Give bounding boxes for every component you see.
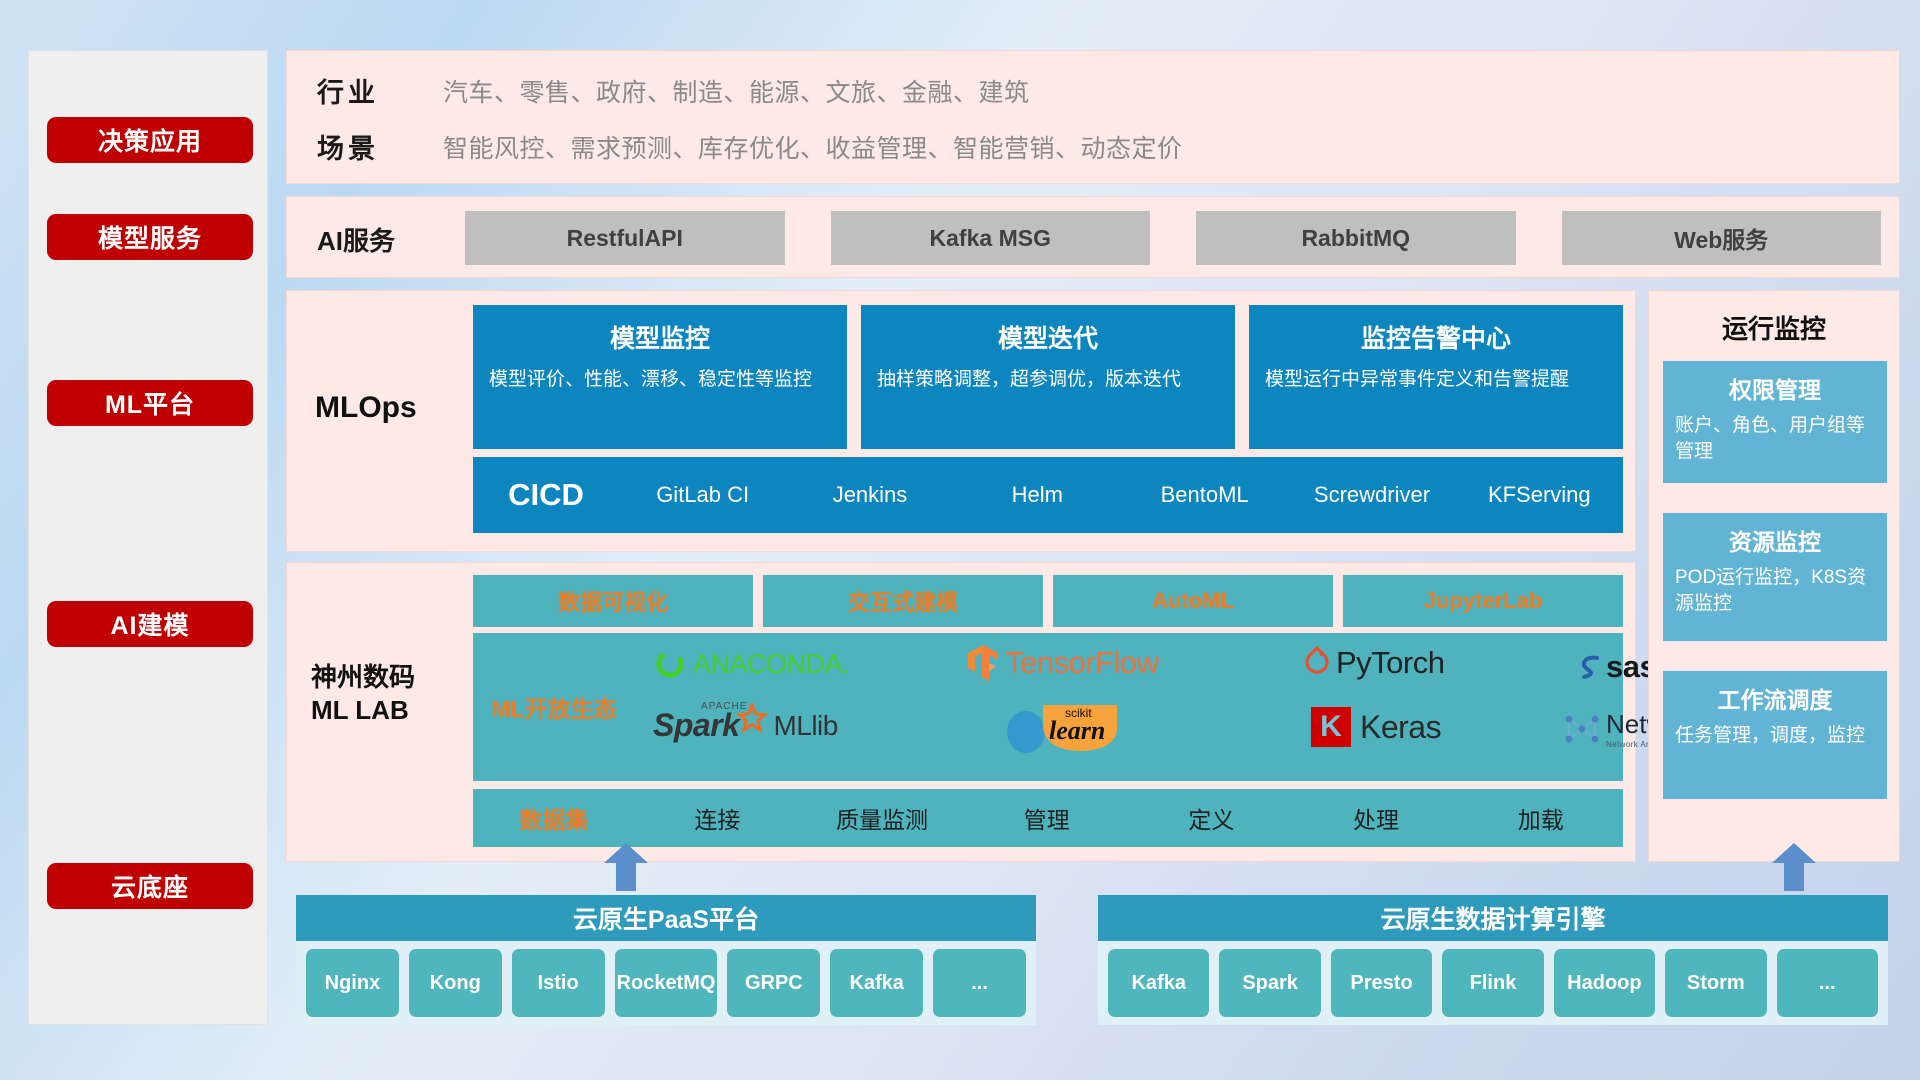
spark-mllib-logo: APACHE Spark MLlib [653, 707, 838, 744]
paas-chip-kafka[interactable]: Kafka [830, 949, 923, 1017]
cicd-label: CICD [473, 477, 619, 513]
ml-lab-title: 神州数码 ML LAB [311, 661, 471, 727]
card-desc: 模型评价、性能、漂移、稳定性等监控 [489, 367, 831, 392]
ml-ecosystem-logo-area: ANACONDA. TensorFlow [635, 633, 1623, 781]
cicd-item-helm[interactable]: Helm [954, 482, 1121, 507]
cicd-item-gitlab-ci[interactable]: GitLab CI [619, 482, 786, 507]
card-desc: 账户、角色、用户组等管理 [1675, 413, 1875, 465]
cicd-item-bentoml[interactable]: BentoML [1121, 482, 1288, 507]
rail-item-ai-modeling[interactable]: AI建模 [47, 601, 253, 647]
dataset-item-quality[interactable]: 质量监测 [800, 801, 965, 835]
mlops-card-list: 模型监控 模型评价、性能、漂移、稳定性等监控 模型迭代 抽样策略调整，超参调优，… [473, 305, 1623, 449]
tensorflow-wordmark: TensorFlow [1005, 645, 1159, 681]
rail-item-model-service[interactable]: 模型服务 [47, 214, 253, 260]
mlops-title: MLOps [315, 391, 465, 425]
ml-lab-panel: 神州数码 ML LAB 数据可视化 交互式建模 AutoML JupyterLa… [286, 562, 1636, 862]
cicd-item-kfserving[interactable]: KFServing [1456, 482, 1623, 507]
keras-wordmark: Keras [1360, 709, 1441, 746]
cloud-native-data-engine-block: 云原生数据计算引擎 Kafka Spark Presto Flink Hadoo… [1098, 895, 1888, 1025]
dataset-item-manage[interactable]: 管理 [964, 801, 1129, 835]
ai-service-chip-web[interactable]: Web服务 [1562, 211, 1882, 265]
rail-item-ml-platform[interactable]: ML平台 [47, 380, 253, 426]
scenario-label: 场景 [317, 127, 443, 166]
cicd-bar: CICD GitLab CI Jenkins Helm BentoML Scre… [473, 457, 1623, 533]
keras-mark-icon: K [1311, 707, 1351, 747]
dataset-item-connect[interactable]: 连接 [635, 801, 800, 835]
ai-service-chip-rabbitmq[interactable]: RabbitMQ [1196, 211, 1516, 265]
scikit-learn-logo: scikit learn [1003, 703, 1121, 758]
paas-chip-nginx[interactable]: Nginx [306, 949, 399, 1017]
monitor-card-permission[interactable]: 权限管理 账户、角色、用户组等管理 [1663, 361, 1887, 483]
cicd-item-screwdriver[interactable]: Screwdriver [1288, 482, 1455, 507]
paas-title: 云原生PaaS平台 [296, 895, 1036, 941]
ml-lab-tab-list: 数据可视化 交互式建模 AutoML JupyterLab [473, 575, 1623, 627]
tensorflow-mark-icon [965, 643, 1001, 683]
data-engine-chip-storm[interactable]: Storm [1665, 949, 1766, 1017]
rail-item-label: AI建模 [110, 606, 189, 642]
data-engine-chip-kafka[interactable]: Kafka [1108, 949, 1209, 1017]
networkx-graph-icon [1563, 710, 1601, 748]
ml-lab-title-line1: 神州数码 [311, 661, 471, 694]
tab-interactive-modeling[interactable]: 交互式建模 [763, 575, 1043, 627]
rail-item-decision-apps[interactable]: 决策应用 [47, 117, 253, 163]
scenario-values: 智能风控、需求预测、库存优化、收益管理、智能营销、动态定价 [443, 129, 1183, 165]
pytorch-wordmark: PyTorch [1336, 645, 1444, 681]
runtime-monitoring-title: 运行监控 [1649, 309, 1899, 346]
card-desc: 抽样策略调整，超参调优，版本迭代 [877, 367, 1219, 392]
data-engine-chip-spark[interactable]: Spark [1219, 949, 1320, 1017]
anaconda-wordmark: ANACONDA. [693, 649, 849, 680]
mlops-card-model-iteration[interactable]: 模型迭代 抽样策略调整，超参调优，版本迭代 [861, 305, 1235, 449]
paas-chip-list: Nginx Kong Istio RocketMQ GRPC Kafka ... [296, 941, 1036, 1025]
mlops-card-model-monitoring[interactable]: 模型监控 模型评价、性能、漂移、稳定性等监控 [473, 305, 847, 449]
anaconda-mark-icon [653, 647, 687, 681]
industry-label: 行业 [317, 71, 443, 110]
industry-row: 行业 汽车、零售、政府、制造、能源、文旅、金融、建筑 [317, 71, 1030, 110]
sas-logo: sas [1575, 649, 1656, 685]
data-engine-chip-presto[interactable]: Presto [1331, 949, 1432, 1017]
up-arrow-paas-icon [604, 843, 648, 891]
dataset-label: 数据集 [473, 801, 635, 835]
layer-rail: 决策应用 模型服务 ML平台 AI建模 云底座 [28, 50, 268, 1025]
tab-automl[interactable]: AutoML [1053, 575, 1333, 627]
rail-item-cloud-base[interactable]: 云底座 [47, 863, 253, 909]
pytorch-flame-icon [1303, 646, 1331, 680]
decision-apps-panel: 行业 汽车、零售、政府、制造、能源、文旅、金融、建筑 场景 智能风控、需求预测、… [286, 50, 1900, 184]
cicd-item-jenkins[interactable]: Jenkins [786, 482, 953, 507]
data-engine-chip-flink[interactable]: Flink [1442, 949, 1543, 1017]
card-desc: POD运行监控，K8S资源监控 [1675, 565, 1875, 617]
tab-data-visualization[interactable]: 数据可视化 [473, 575, 753, 627]
up-arrow-data-engine-icon [1772, 843, 1816, 891]
tab-jupyterlab[interactable]: JupyterLab [1343, 575, 1623, 627]
data-engine-title: 云原生数据计算引擎 [1098, 895, 1888, 941]
data-engine-chip-list: Kafka Spark Presto Flink Hadoop Storm ..… [1098, 941, 1888, 1025]
card-title: 模型监控 [489, 319, 831, 355]
rail-item-label: 模型服务 [98, 219, 202, 255]
card-title: 权限管理 [1675, 371, 1875, 405]
monitor-card-workflow[interactable]: 工作流调度 任务管理，调度，监控 [1663, 671, 1887, 799]
sas-mark-icon [1575, 652, 1605, 682]
card-desc: 模型运行中异常事件定义和告警提醒 [1265, 367, 1607, 392]
ml-ecosystem-label: ML开放生态 [473, 690, 635, 724]
dataset-row: 数据集 连接 质量监测 管理 定义 处理 加载 [473, 789, 1623, 847]
paas-chip-istio[interactable]: Istio [512, 949, 605, 1017]
dataset-item-load[interactable]: 加载 [1458, 801, 1623, 835]
scenario-row: 场景 智能风控、需求预测、库存优化、收益管理、智能营销、动态定价 [317, 127, 1183, 166]
ml-ecosystem-row: ML开放生态 ANACONDA. TensorFlow [473, 633, 1623, 781]
mlops-card-alert-center[interactable]: 监控告警中心 模型运行中异常事件定义和告警提醒 [1249, 305, 1623, 449]
dataset-item-process[interactable]: 处理 [1294, 801, 1459, 835]
ai-service-chip-list: RestfulAPI Kafka MSG RabbitMQ Web服务 [465, 211, 1881, 265]
keras-logo: K Keras [1311, 707, 1441, 747]
rail-item-label: 决策应用 [98, 122, 202, 158]
cloud-native-paas-block: 云原生PaaS平台 Nginx Kong Istio RocketMQ GRPC… [296, 895, 1036, 1025]
card-title: 监控告警中心 [1265, 319, 1607, 355]
paas-chip-grpc[interactable]: GRPC [727, 949, 820, 1017]
data-engine-chip-more[interactable]: ... [1777, 949, 1878, 1017]
learn-text: learn [1049, 716, 1105, 746]
runtime-monitoring-panel: 运行监控 权限管理 账户、角色、用户组等管理 资源监控 POD运行监控，K8S资… [1648, 290, 1900, 862]
card-desc: 任务管理，调度，监控 [1675, 723, 1875, 749]
paas-chip-more[interactable]: ... [933, 949, 1026, 1017]
pytorch-logo: PyTorch [1303, 645, 1444, 681]
mlops-panel: MLOps 模型监控 模型评价、性能、漂移、稳定性等监控 模型迭代 抽样策略调整… [286, 290, 1636, 552]
ai-service-chip-kafka-msg[interactable]: Kafka MSG [831, 211, 1151, 265]
spark-wordmark: Spark [653, 707, 739, 744]
spark-apache-text: APACHE [701, 701, 747, 712]
data-engine-chip-hadoop[interactable]: Hadoop [1554, 949, 1655, 1017]
paas-chip-rocketmq[interactable]: RocketMQ [615, 949, 718, 1017]
card-title: 模型迭代 [877, 319, 1219, 355]
mllib-wordmark: MLlib [773, 710, 837, 742]
industry-values: 汽车、零售、政府、制造、能源、文旅、金融、建筑 [443, 73, 1030, 109]
rail-item-label: ML平台 [105, 385, 195, 421]
ml-lab-title-line2: ML LAB [311, 694, 471, 727]
tensorflow-logo: TensorFlow [965, 643, 1159, 683]
card-title: 工作流调度 [1675, 681, 1875, 715]
rail-item-label: 云底座 [111, 868, 189, 904]
card-title: 资源监控 [1675, 523, 1875, 557]
ai-service-panel: AI服务 RestfulAPI Kafka MSG RabbitMQ Web服务 [286, 196, 1900, 278]
paas-chip-kong[interactable]: Kong [409, 949, 502, 1017]
ai-service-chip-restfulapi[interactable]: RestfulAPI [465, 211, 785, 265]
dataset-item-define[interactable]: 定义 [1129, 801, 1294, 835]
anaconda-logo: ANACONDA. [653, 647, 849, 681]
monitor-card-resource[interactable]: 资源监控 POD运行监控，K8S资源监控 [1663, 513, 1887, 641]
ai-service-title: AI服务 [317, 221, 457, 258]
